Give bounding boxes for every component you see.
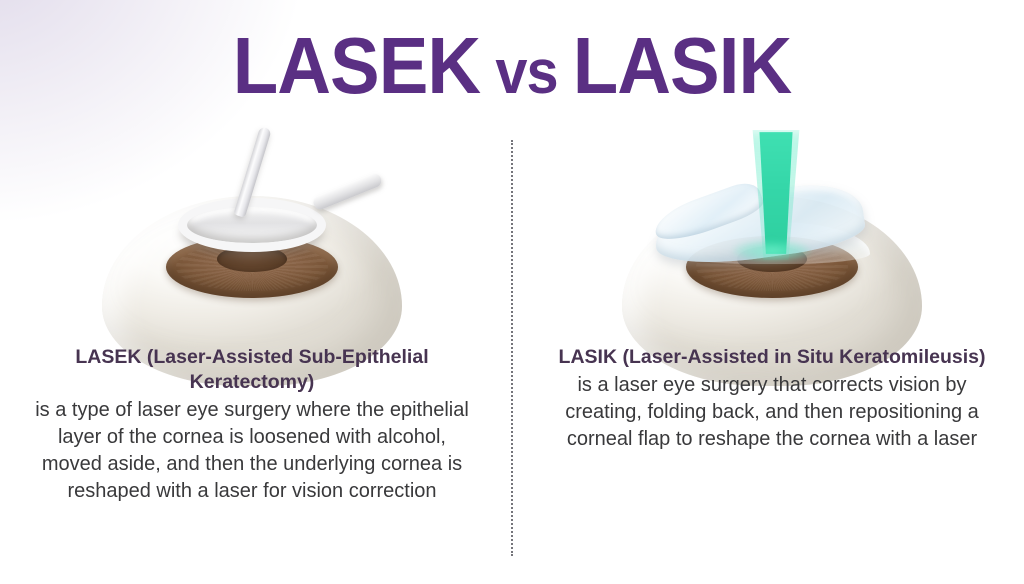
title-connector: vs: [480, 38, 572, 107]
lasek-body-text: is a type of laser eye surgery where the…: [28, 395, 476, 505]
infographic-page: LASEK vs LASIK LASEK (Laser-Assisted Sub…: [0, 0, 1024, 584]
lasek-heading: LASEK (Laser-Assisted Sub-Epithelial Ker…: [37, 345, 467, 395]
laser-impact-glow: [733, 240, 811, 262]
trephine-ring-icon: [178, 198, 326, 252]
lasik-caption: LASIK (Laser-Assisted in Situ Keratomile…: [522, 345, 1022, 453]
title-left-term: LASEK: [233, 21, 481, 110]
lasek-column: LASEK (Laser-Assisted Sub-Epithelial Ker…: [2, 140, 502, 560]
column-divider: [511, 140, 513, 556]
lasik-body-text: is a laser eye surgery that corrects vis…: [548, 370, 996, 453]
trephine-handle-icon: [311, 172, 383, 212]
lasik-column: LASIK (Laser-Assisted in Situ Keratomile…: [522, 140, 1022, 560]
lasik-heading: LASIK (Laser-Assisted in Situ Keratomile…: [557, 345, 987, 370]
page-title: LASEK vs LASIK: [36, 22, 988, 117]
title-right-term: LASIK: [573, 21, 792, 110]
lasek-eye-illustration: [2, 140, 502, 325]
lasek-caption: LASEK (Laser-Assisted Sub-Epithelial Ker…: [2, 345, 502, 505]
lasik-eye-illustration: [522, 140, 1022, 325]
